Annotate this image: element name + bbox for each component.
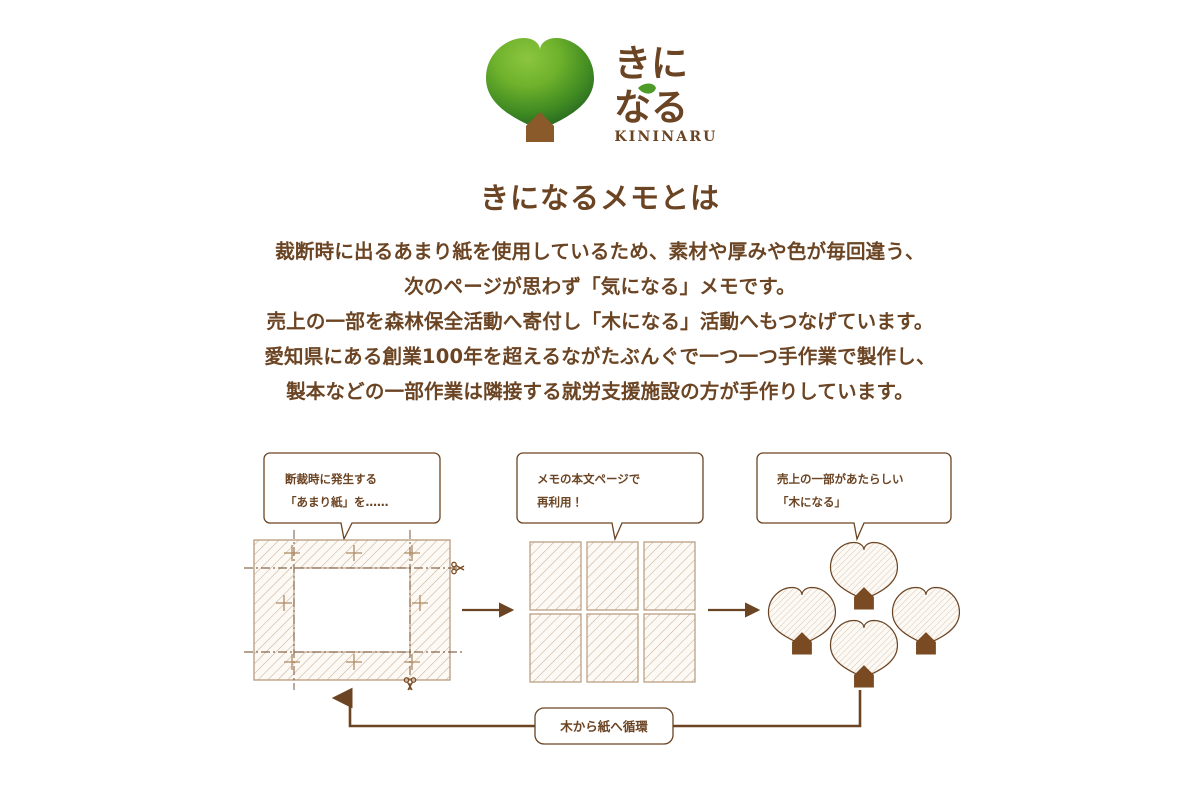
- bubble-tree: 売上の一部があたらしい 「木になる」: [757, 453, 951, 539]
- page-title: きになるメモとは: [0, 175, 1200, 217]
- tree-shape: [768, 587, 835, 654]
- bubble-cutting-line2: 「あまり紙」を……: [285, 495, 389, 509]
- body-line: 愛知県にある創業100年を超えるながたぶんぐで一つ一つ手作業で製作し、: [0, 339, 1200, 374]
- tree-shape: [830, 620, 897, 687]
- process-diagram: 断裁時に発生する 「あまり紙」を…… メモの本文ページで 再利用！ 売上の一部が…: [240, 440, 970, 760]
- bubble-cutting-line1: 断裁時に発生する: [285, 472, 377, 486]
- body-line: 売上の一部を森林保全活動へ寄付し「木になる」活動へもつなげています。: [0, 304, 1200, 339]
- cutting-sheet-inner: [294, 568, 410, 652]
- memo-page: [644, 614, 695, 682]
- logo-wordmark-kana: きに なる: [614, 40, 718, 126]
- step-memo-pages: [530, 542, 695, 682]
- logo-wordmark: きに なる KININARU: [614, 34, 718, 145]
- brand-logo: きに なる KININARU: [0, 34, 1200, 145]
- loop-label: 木から紙へ循環: [559, 719, 648, 734]
- circulation-loop: 木から紙へ循環: [350, 690, 860, 744]
- step-trees: [768, 542, 959, 687]
- memo-page: [530, 614, 581, 682]
- bubble-reuse-line1: メモの本文ページで: [537, 472, 640, 486]
- bubble-tree-line1: 売上の一部があたらしい: [777, 472, 904, 486]
- process-diagram-svg: 断裁時に発生する 「あまり紙」を…… メモの本文ページで 再利用！ 売上の一部が…: [240, 440, 970, 760]
- bubble-cutting: 断裁時に発生する 「あまり紙」を……: [264, 453, 440, 539]
- logo-romaji: KININARU: [614, 129, 717, 145]
- bubble-reuse: メモの本文ページで 再利用！: [517, 453, 703, 539]
- memo-page: [644, 542, 695, 610]
- memo-page: [587, 614, 638, 682]
- tree-heart-logo-icon: [482, 34, 598, 142]
- logo-wordmark-line1: きに: [614, 42, 688, 85]
- body-line: 次のページが思わず「気になる」メモです。: [0, 269, 1200, 304]
- memo-page: [587, 542, 638, 610]
- body-copy: 裁断時に出るあまり紙を使用しているため、素材や厚みや色が毎回違う、 次のページが…: [0, 234, 1200, 409]
- bubble-reuse-line2: 再利用！: [537, 495, 583, 509]
- tree-shape: [892, 587, 959, 654]
- step-cutting-sheet: [244, 530, 464, 690]
- bubble-tree-line2: 「木になる」: [777, 495, 846, 509]
- body-line: 製本などの一部作業は隣接する就労支援施設の方が手作りしています。: [0, 374, 1200, 409]
- tree-shape: [830, 542, 897, 609]
- body-line: 裁断時に出るあまり紙を使用しているため、素材や厚みや色が毎回違う、: [0, 234, 1200, 269]
- memo-page: [530, 542, 581, 610]
